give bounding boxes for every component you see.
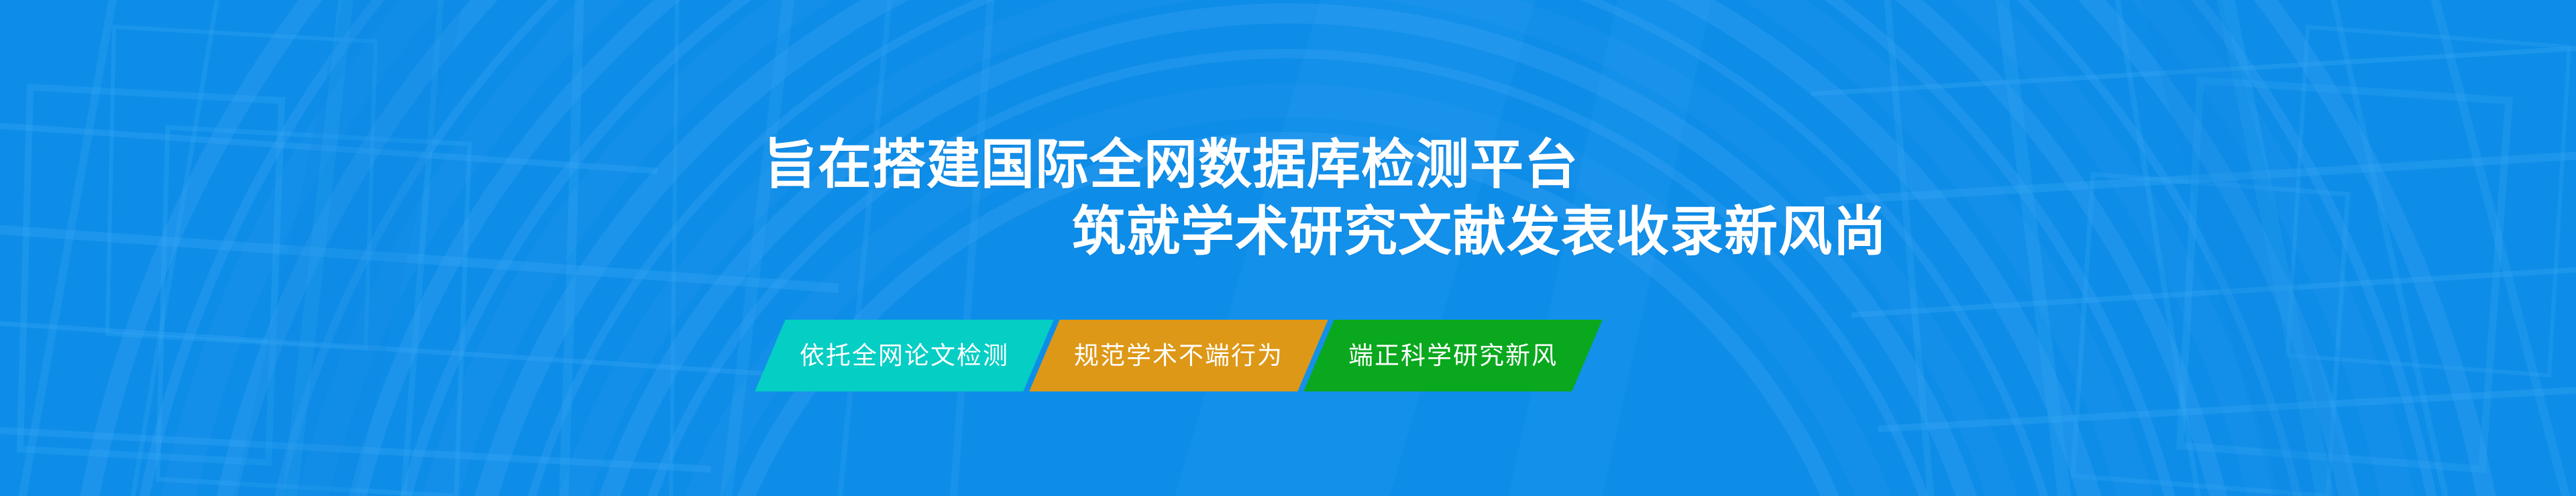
headline-line-1: 旨在搭建国际全网数据库检测平台 [763, 131, 2576, 198]
promo-banner: 旨在搭建国际全网数据库检测平台 筑就学术研究文献发表收录新风尚 依托全网论文检测… [0, 0, 2576, 496]
headline-line-2: 筑就学术研究文献发表收录新风尚 [1072, 198, 2576, 265]
headline-block: 旨在搭建国际全网数据库检测平台 筑就学术研究文献发表收录新风尚 [0, 131, 2576, 265]
feature-badge-misconduct[interactable]: 规范学术不端行为 [1029, 320, 1328, 391]
feature-badge-strip: 依托全网论文检测 规范学术不端行为 端正科学研究新风 [770, 320, 1587, 391]
feature-badge-research-ethos-label: 端正科学研究新风 [1348, 343, 1558, 368]
feature-badge-misconduct-label: 规范学术不端行为 [1074, 343, 1283, 368]
feature-badge-detection[interactable]: 依托全网论文检测 [755, 320, 1053, 391]
feature-badge-research-ethos[interactable]: 端正科学研究新风 [1303, 320, 1602, 391]
feature-badge-detection-label: 依托全网论文检测 [800, 343, 1009, 368]
